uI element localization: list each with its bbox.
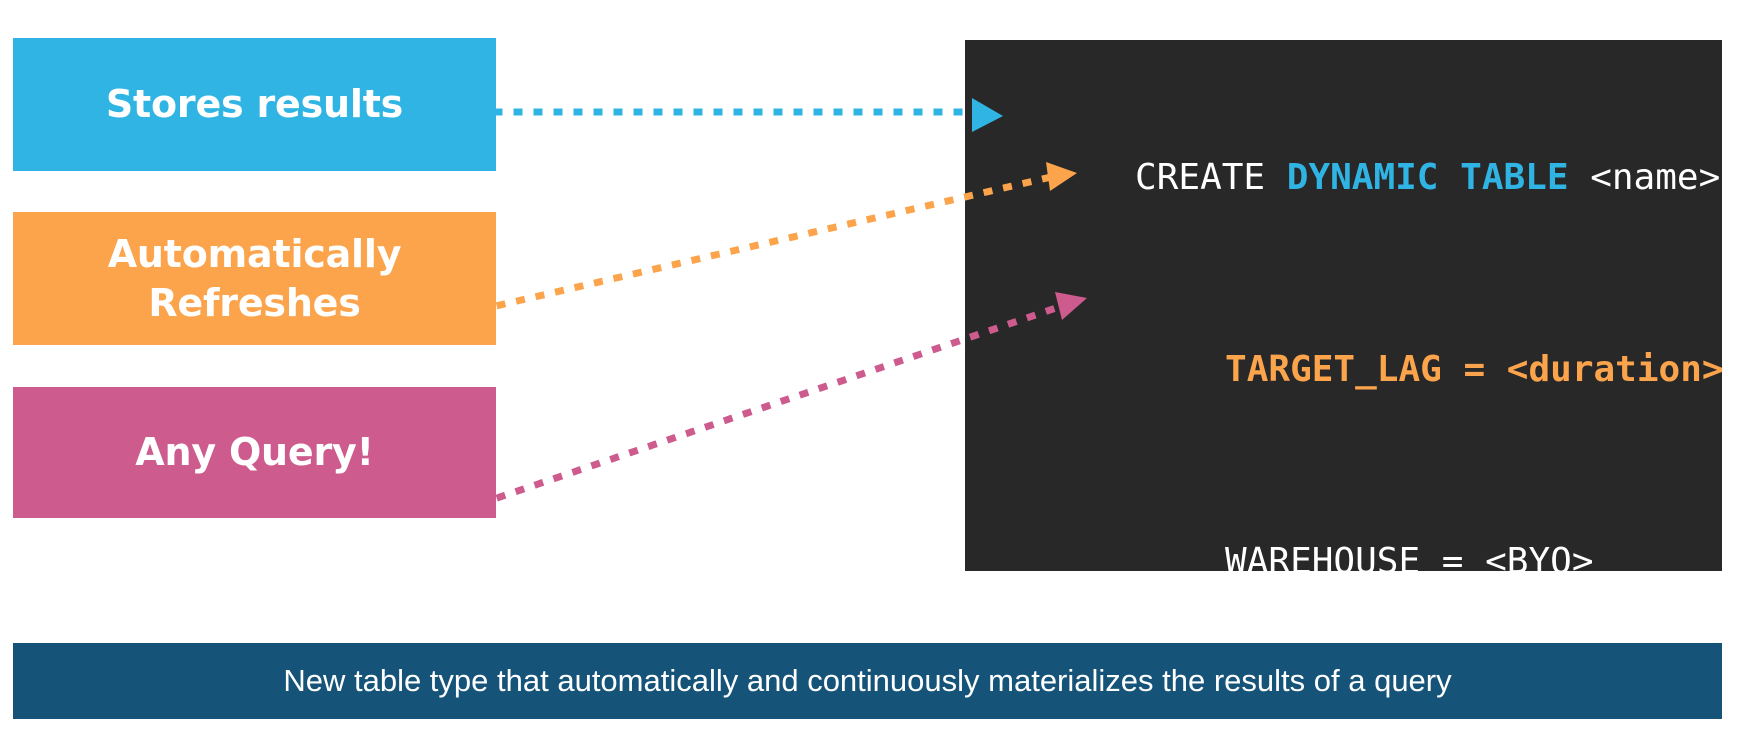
feature-box-stores-results-label: Stores results bbox=[106, 80, 403, 129]
code-line-warehouse: WAREHOUSE = <BYO> bbox=[965, 466, 1722, 571]
feature-box-any-query-label: Any Query! bbox=[135, 428, 373, 477]
code-token-name-placeholder: <name> bbox=[1569, 157, 1721, 198]
code-token-create: CREATE bbox=[1135, 157, 1287, 198]
feature-box-stores-results[interactable]: Stores results bbox=[13, 38, 496, 171]
code-token-target-lag: TARGET_LAG = <duration> bbox=[1225, 349, 1722, 390]
feature-label-line-2: Refreshes bbox=[148, 281, 360, 325]
feature-box-automatically-refreshes-label: Automatically Refreshes bbox=[108, 230, 402, 327]
feature-box-any-query[interactable]: Any Query! bbox=[13, 387, 496, 518]
caption-bar: New table type that automatically and co… bbox=[13, 643, 1722, 719]
code-line-target-lag: TARGET_LAG = <duration> bbox=[965, 274, 1722, 466]
code-token-warehouse: WAREHOUSE = <BYO> bbox=[1225, 541, 1593, 571]
caption-text: New table type that automatically and co… bbox=[283, 663, 1451, 699]
code-token-dynamic-table: DYNAMIC TABLE bbox=[1287, 157, 1569, 198]
code-panel: CREATE DYNAMIC TABLE <name> TARGET_LAG =… bbox=[965, 40, 1722, 571]
connector-stores-results-to-create bbox=[497, 98, 1003, 132]
code-line-create: CREATE DYNAMIC TABLE <name> bbox=[965, 82, 1722, 274]
feature-box-automatically-refreshes[interactable]: Automatically Refreshes bbox=[13, 212, 496, 345]
feature-label-line-1: Automatically bbox=[108, 232, 402, 276]
slide-canvas: Stores results Automatically Refreshes A… bbox=[0, 0, 1741, 746]
